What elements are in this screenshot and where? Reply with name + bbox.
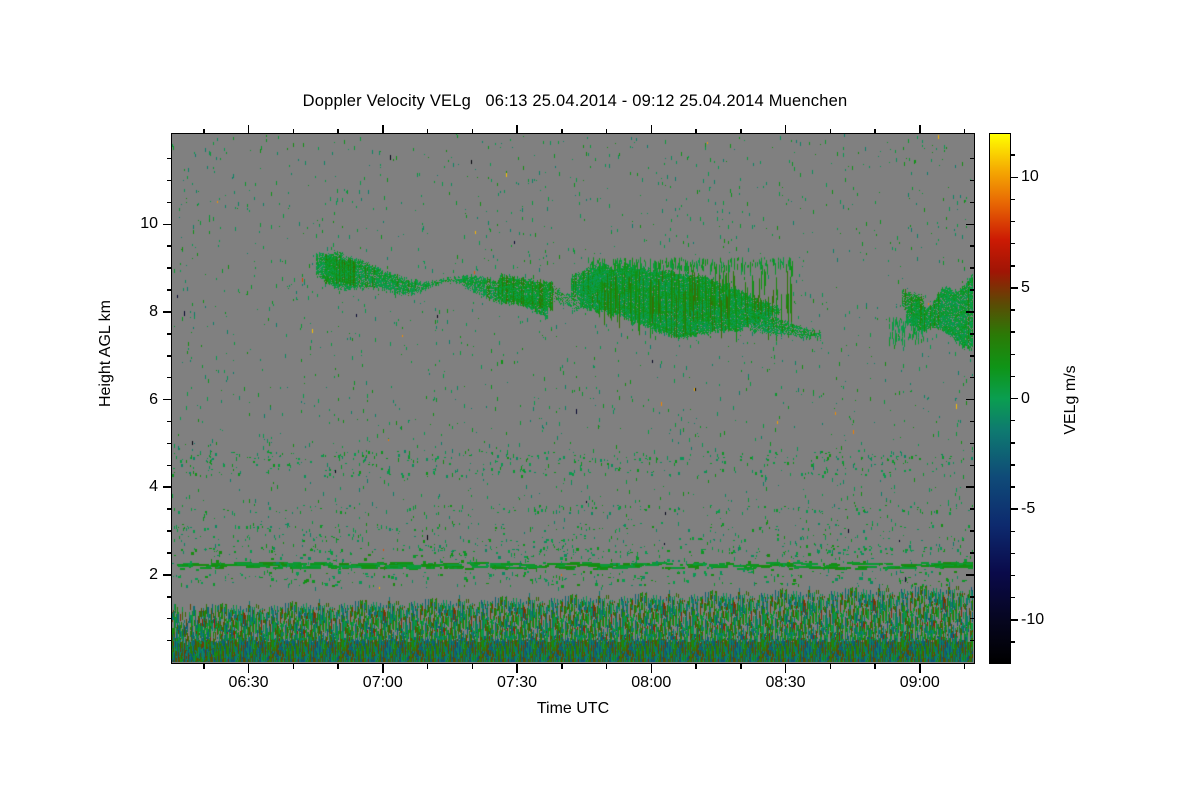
- x-axis-tick: [382, 664, 384, 673]
- x-axis-tick: [785, 125, 787, 134]
- y-axis-tick: [163, 399, 172, 401]
- colorbar-minor-tick: [1011, 531, 1015, 533]
- colorbar-minor-tick: [1011, 575, 1015, 577]
- y-axis-tick: [966, 311, 975, 313]
- y-axis-tick-label: 4: [149, 479, 158, 495]
- y-axis-minor-tick: [167, 640, 172, 642]
- y-axis-minor-tick: [970, 180, 975, 182]
- page-title: Doppler Velocity VELg 06:13 25.04.2014 -…: [0, 92, 1150, 111]
- plot-area: [171, 133, 975, 664]
- y-axis-tick-label: 2: [149, 567, 158, 583]
- y-axis-title: Height AGL km: [97, 300, 115, 407]
- y-axis-minor-tick: [167, 421, 172, 423]
- y-axis-tick: [163, 486, 172, 488]
- y-axis-minor-tick: [167, 267, 172, 269]
- x-axis-tick: [919, 125, 921, 134]
- y-axis-minor-tick: [970, 640, 975, 642]
- y-axis-minor-tick: [167, 618, 172, 620]
- y-axis-minor-tick: [970, 443, 975, 445]
- x-axis-minor-tick: [874, 664, 876, 669]
- colorbar-tick: [1011, 398, 1018, 400]
- y-axis-minor-tick: [167, 202, 172, 204]
- x-axis-minor-tick: [472, 664, 474, 669]
- y-axis-minor-tick: [167, 443, 172, 445]
- y-axis-minor-tick: [970, 377, 975, 379]
- x-axis-minor-tick: [337, 129, 339, 134]
- colorbar-tick-label: 0: [1021, 391, 1030, 407]
- x-axis-minor-tick: [427, 664, 429, 669]
- colorbar-title: VELg m/s: [1062, 365, 1080, 434]
- colorbar-tick: [1011, 177, 1018, 179]
- y-axis-minor-tick: [167, 508, 172, 510]
- x-axis-minor-tick: [472, 129, 474, 134]
- y-axis-tick-label: 6: [149, 392, 158, 408]
- colorbar-minor-tick: [1011, 265, 1015, 267]
- colorbar-gradient: [990, 134, 1010, 663]
- y-axis-minor-tick: [970, 355, 975, 357]
- x-axis-minor-tick: [203, 129, 205, 134]
- colorbar-minor-tick: [1011, 420, 1015, 422]
- colorbar-tick-label: -10: [1021, 612, 1044, 628]
- x-axis-minor-tick: [337, 664, 339, 669]
- y-axis-minor-tick: [970, 202, 975, 204]
- x-axis-tick-label: 07:00: [363, 675, 403, 691]
- colorbar-tick: [1011, 619, 1018, 621]
- x-axis-minor-tick: [606, 129, 608, 134]
- y-axis-tick: [966, 399, 975, 401]
- y-axis-minor-tick: [167, 158, 172, 160]
- colorbar-minor-tick: [1011, 243, 1015, 245]
- y-axis-minor-tick: [970, 245, 975, 247]
- x-axis-minor-tick: [874, 129, 876, 134]
- doppler-velocity-heatmap: [172, 134, 973, 662]
- colorbar-minor-tick: [1011, 641, 1015, 643]
- y-axis-tick: [966, 486, 975, 488]
- x-axis-minor-tick: [830, 664, 832, 669]
- x-axis-minor-tick: [561, 129, 563, 134]
- y-axis-tick: [966, 224, 975, 226]
- x-axis-tick: [651, 125, 653, 134]
- x-axis-minor-tick: [427, 129, 429, 134]
- y-axis-minor-tick: [970, 530, 975, 532]
- y-axis-tick: [163, 574, 172, 576]
- y-axis-minor-tick: [970, 508, 975, 510]
- x-axis-tick-label: 09:00: [900, 675, 940, 691]
- x-axis-tick: [248, 664, 250, 673]
- y-axis-minor-tick: [167, 596, 172, 598]
- x-axis-tick: [248, 125, 250, 134]
- colorbar-minor-tick: [1011, 309, 1015, 311]
- colorbar-minor-tick: [1011, 486, 1015, 488]
- x-axis-tick: [785, 664, 787, 673]
- colorbar-minor-tick: [1011, 154, 1015, 156]
- colorbar-tick-label: 5: [1021, 280, 1030, 296]
- y-axis-minor-tick: [970, 552, 975, 554]
- y-axis-minor-tick: [167, 180, 172, 182]
- y-axis-tick: [163, 311, 172, 313]
- x-axis-minor-tick: [606, 664, 608, 669]
- y-axis-minor-tick: [167, 552, 172, 554]
- colorbar-minor-tick: [1011, 354, 1015, 356]
- x-axis-minor-tick: [740, 664, 742, 669]
- colorbar-minor-tick: [1011, 442, 1015, 444]
- colorbar-minor-tick: [1011, 553, 1015, 555]
- y-axis-minor-tick: [167, 530, 172, 532]
- y-axis-minor-tick: [167, 289, 172, 291]
- colorbar-minor-tick: [1011, 331, 1015, 333]
- colorbar-tick: [1011, 508, 1018, 510]
- y-axis-tick: [163, 224, 172, 226]
- x-axis-tick: [651, 664, 653, 673]
- x-axis-tick: [516, 664, 518, 673]
- y-axis-minor-tick: [970, 267, 975, 269]
- y-axis-minor-tick: [167, 355, 172, 357]
- y-axis-minor-tick: [167, 245, 172, 247]
- y-axis-minor-tick: [167, 465, 172, 467]
- colorbar: [989, 133, 1011, 664]
- x-axis-minor-tick: [293, 664, 295, 669]
- x-axis-minor-tick: [203, 664, 205, 669]
- y-axis-tick-label: 8: [149, 304, 158, 320]
- y-axis-minor-tick: [970, 333, 975, 335]
- y-axis-minor-tick: [970, 465, 975, 467]
- colorbar-minor-tick: [1011, 597, 1015, 599]
- x-axis-minor-tick: [964, 129, 966, 134]
- x-axis-tick-label: 06:30: [229, 675, 269, 691]
- x-axis-tick-label: 08:00: [631, 675, 671, 691]
- x-axis-tick: [516, 125, 518, 134]
- y-axis-minor-tick: [970, 596, 975, 598]
- x-axis-tick-label: 08:30: [766, 675, 806, 691]
- y-axis-minor-tick: [970, 289, 975, 291]
- y-axis-minor-tick: [970, 618, 975, 620]
- y-axis-minor-tick: [970, 158, 975, 160]
- x-axis-tick: [382, 125, 384, 134]
- colorbar-minor-tick: [1011, 376, 1015, 378]
- colorbar-tick-label: -5: [1021, 501, 1035, 517]
- y-axis-minor-tick: [167, 333, 172, 335]
- x-axis-minor-tick: [830, 129, 832, 134]
- y-axis-tick-label: 10: [140, 216, 158, 232]
- colorbar-tick: [1011, 287, 1018, 289]
- x-axis-minor-tick: [561, 664, 563, 669]
- x-axis-minor-tick: [964, 664, 966, 669]
- y-axis-tick: [966, 574, 975, 576]
- colorbar-tick-label: 10: [1021, 169, 1039, 185]
- y-axis-minor-tick: [970, 421, 975, 423]
- x-axis-tick: [919, 664, 921, 673]
- y-axis-minor-tick: [167, 377, 172, 379]
- x-axis-minor-tick: [695, 664, 697, 669]
- colorbar-minor-tick: [1011, 221, 1015, 223]
- x-axis-tick-label: 07:30: [497, 675, 537, 691]
- x-axis-title: Time UTC: [171, 700, 975, 718]
- x-axis-minor-tick: [740, 129, 742, 134]
- x-axis-minor-tick: [695, 129, 697, 134]
- colorbar-minor-tick: [1011, 464, 1015, 466]
- colorbar-minor-tick: [1011, 199, 1015, 201]
- x-axis-minor-tick: [293, 129, 295, 134]
